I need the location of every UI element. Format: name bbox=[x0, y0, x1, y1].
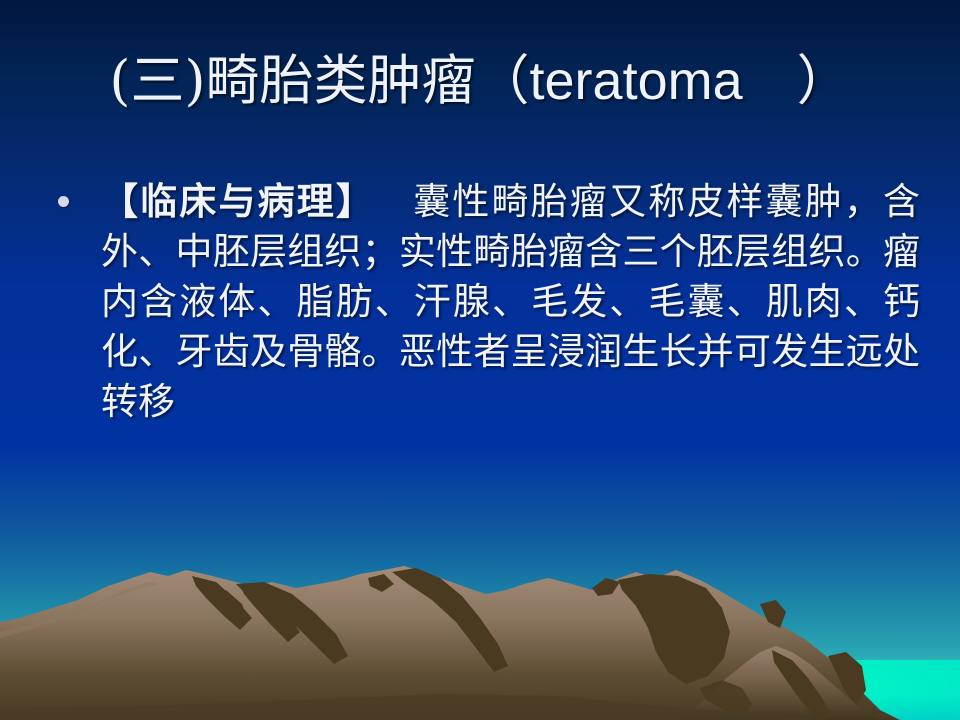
bullet-marker-icon bbox=[58, 196, 69, 207]
mountain-silhouette bbox=[0, 560, 960, 720]
bullet-lead-label: 【临床与病理】 bbox=[101, 179, 375, 223]
title-prefix: (三) bbox=[109, 49, 205, 112]
title-close-paren: ） bbox=[743, 49, 851, 112]
title-chinese: 畸胎类肿瘤 bbox=[206, 49, 476, 112]
slide-title: (三)畸胎类肿瘤（teratoma ） bbox=[0, 50, 960, 112]
bullet-list: 【临床与病理】囊性畸胎瘤又称皮样囊肿，含外、中胚层组织；实性畸胎瘤含三个胚层组织… bbox=[50, 176, 920, 427]
title-latin-term: teratoma bbox=[530, 51, 743, 111]
presentation-slide: (三)畸胎类肿瘤（teratoma ） 【临床与病理】囊性畸胎瘤又称皮样囊肿，含… bbox=[0, 0, 960, 720]
title-open-paren: （ bbox=[476, 49, 530, 112]
bullet-item-text: 【临床与病理】囊性畸胎瘤又称皮样囊肿，含外、中胚层组织；实性畸胎瘤含三个胚层组织… bbox=[101, 176, 920, 427]
